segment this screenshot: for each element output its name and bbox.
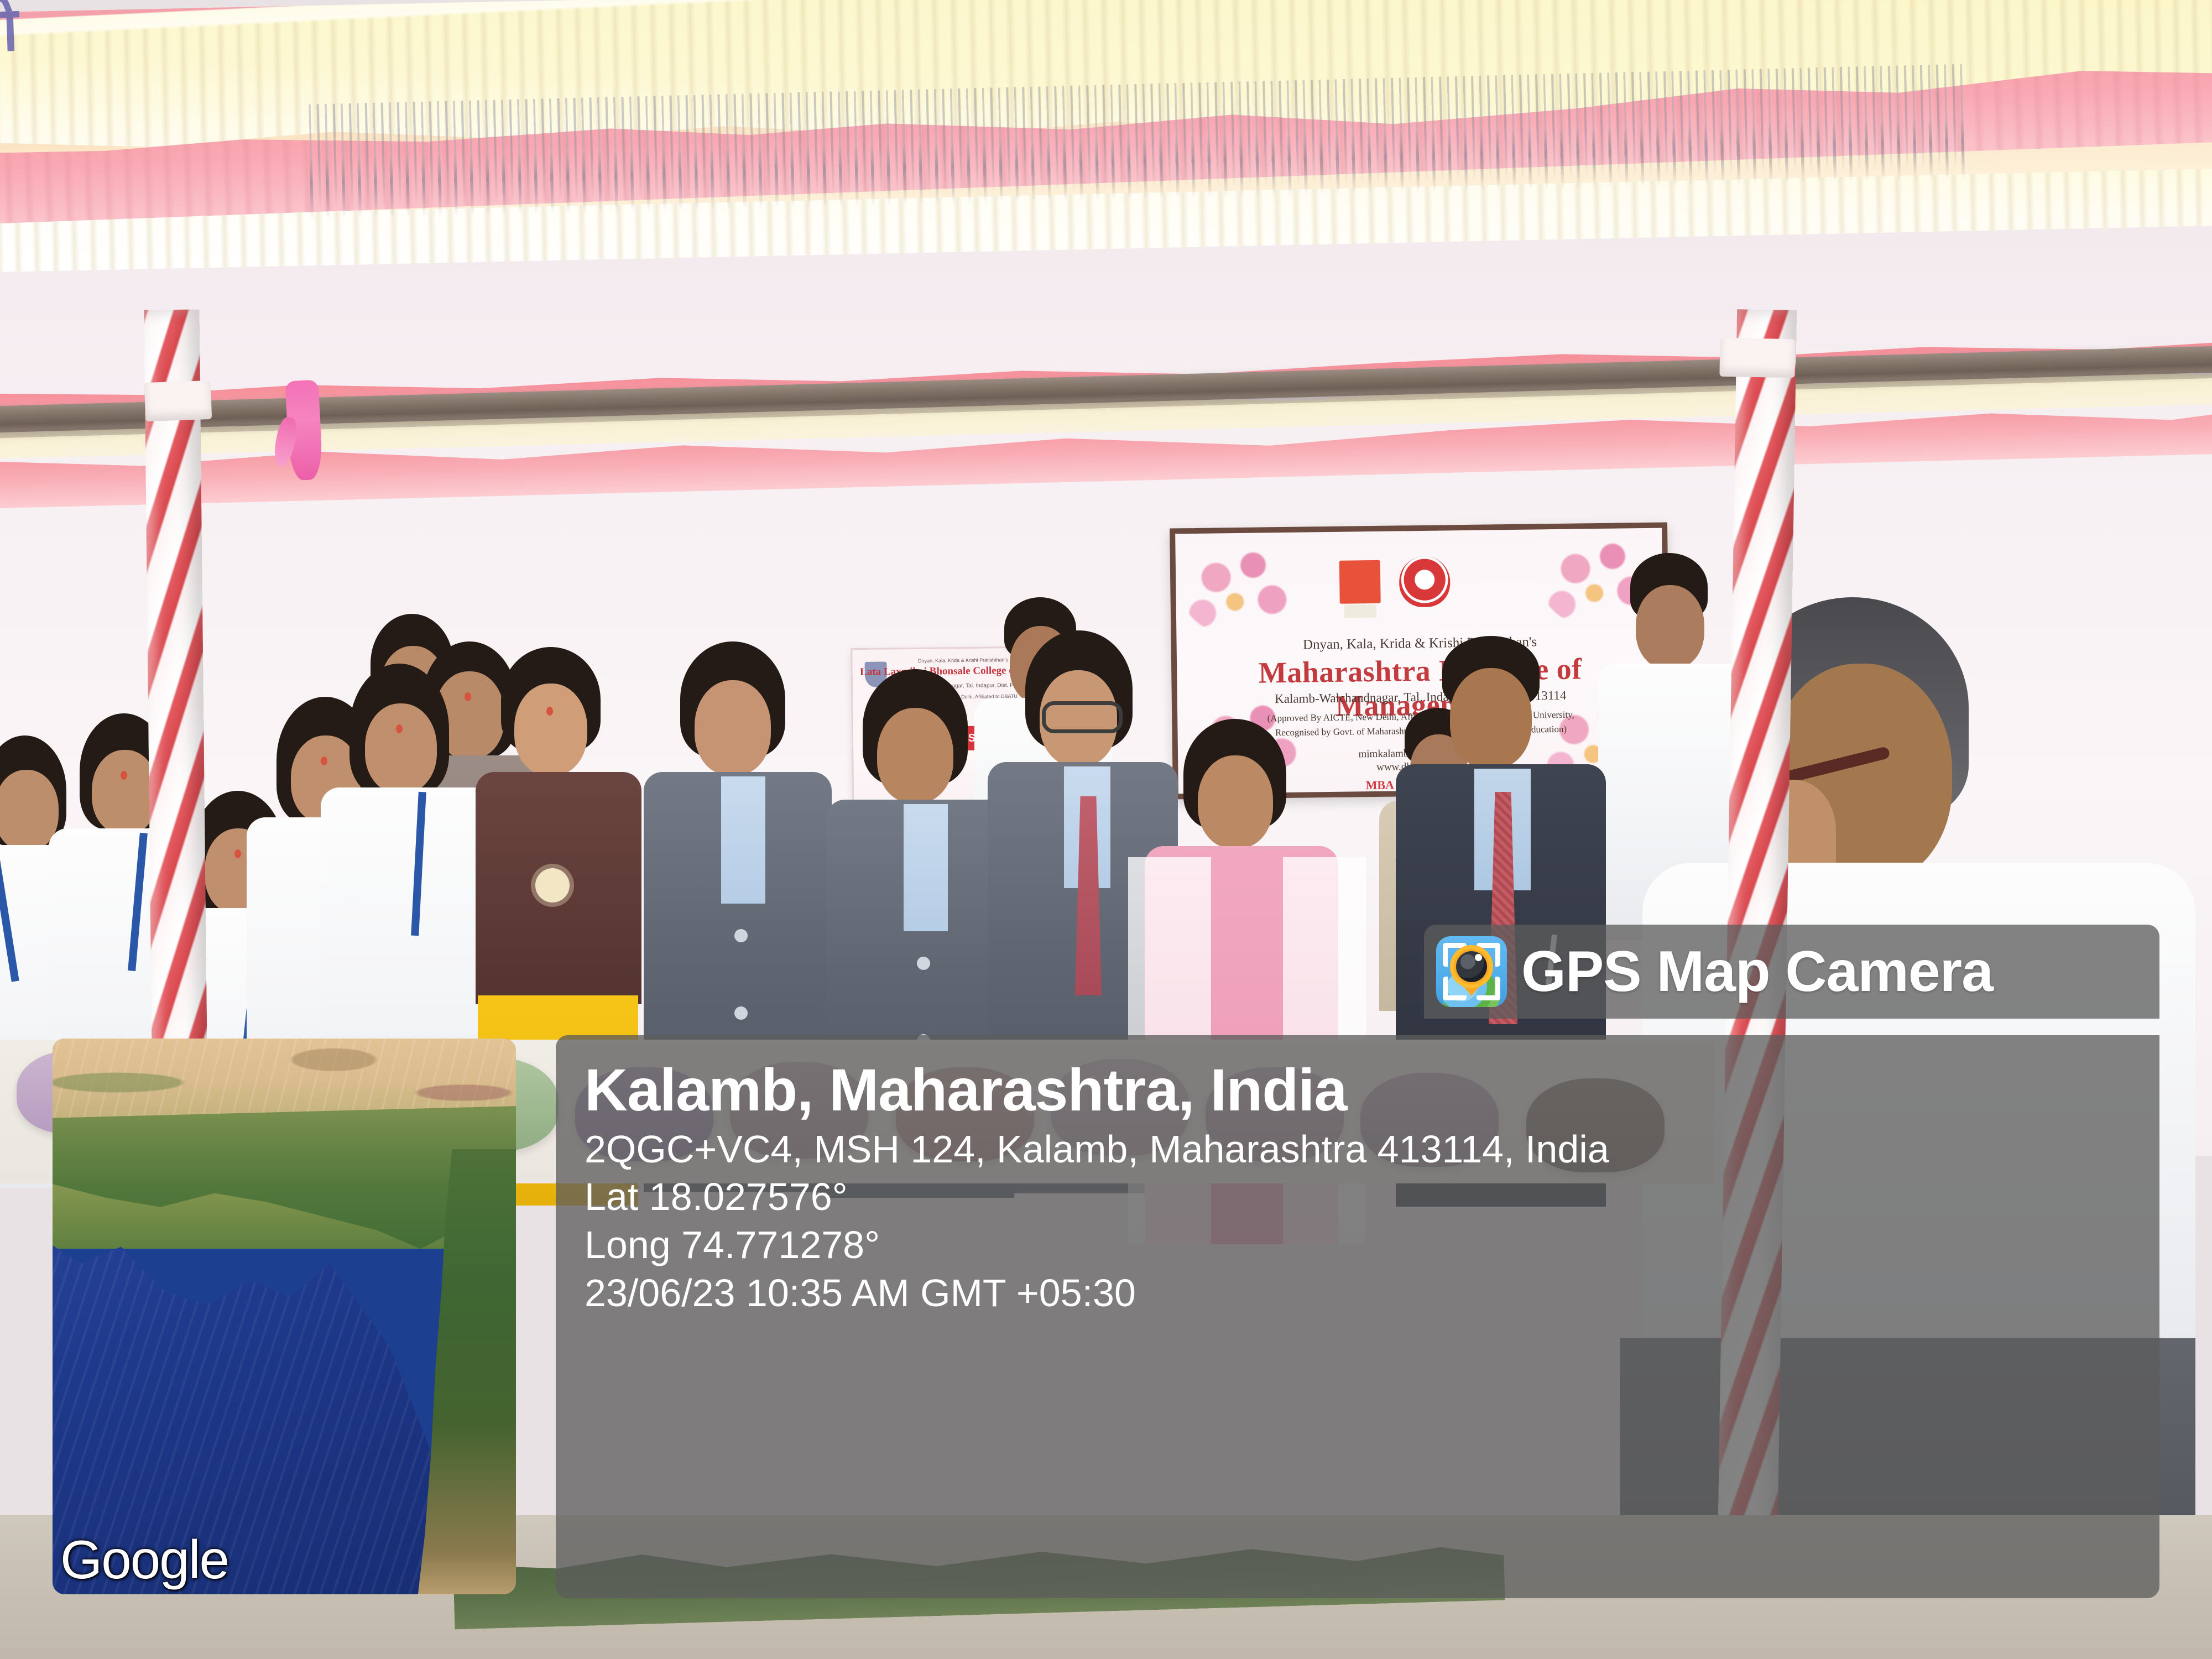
- camera-lens-icon: [1456, 951, 1487, 982]
- location-name: Kalamb, Maharashtra, India: [585, 1057, 2159, 1123]
- screenshot-root: गे Dnyan, Kala, Krida & Krishi Pratishth…: [0, 0, 2212, 1659]
- timestamp-value: 23/06/23 10:35 AM GMT +05:30: [585, 1270, 2159, 1316]
- app-title: GPS Map Camera: [1521, 943, 1993, 1000]
- map-thumbnail[interactable]: Google: [53, 1039, 516, 1594]
- sponsor-logo-icon: [1339, 560, 1381, 604]
- pole-wrap-right: [1719, 338, 1795, 378]
- location-address: 2QGC+VC4, MSH 124, Kalamb, Maharashtra 4…: [585, 1126, 2159, 1172]
- banner-flowers-left: [1181, 545, 1298, 638]
- gps-info-panel: Kalamb, Maharashtra, India 2QGC+VC4, MSH…: [556, 1035, 2159, 1598]
- pole-wrap-left: [144, 380, 212, 421]
- institute-emblem-icon: [1399, 556, 1451, 607]
- lens-highlight-icon: [1475, 954, 1482, 961]
- longitude-value: Long 74.771278°: [585, 1222, 2159, 1268]
- latitude-value: Lat 18.027576°: [585, 1174, 2159, 1220]
- gps-app-header: GPS Map Camera: [1424, 925, 2159, 1019]
- devanagari-sign-fragment: गे: [0, 0, 150, 53]
- google-watermark: Google: [60, 1532, 228, 1587]
- gps-map-camera-icon: [1436, 936, 1507, 1007]
